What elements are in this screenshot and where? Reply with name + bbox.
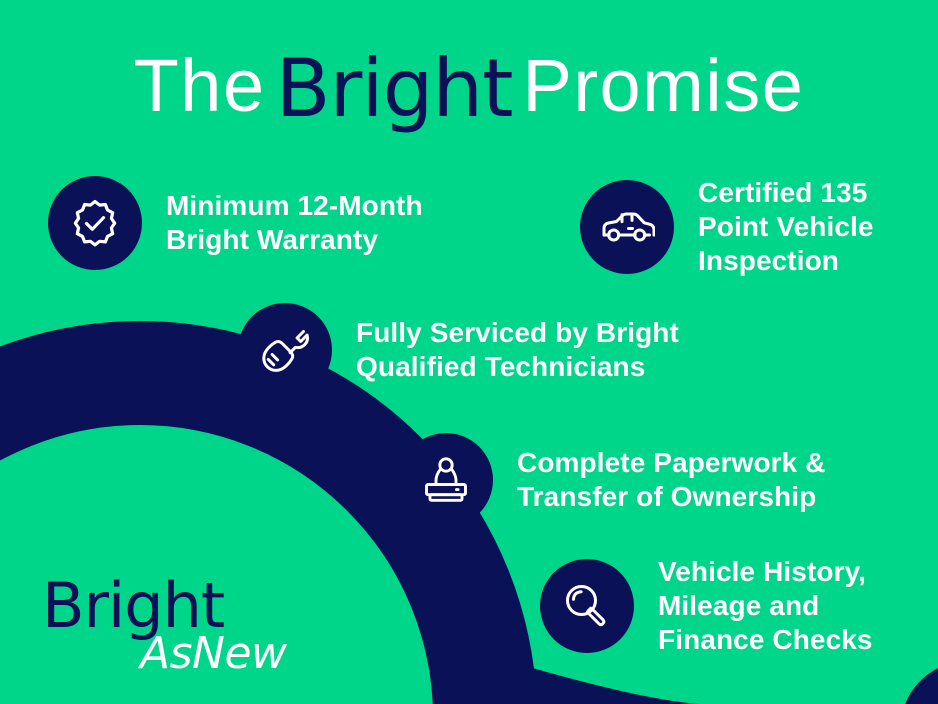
feature-label: Certified 135 Point Vehicle Inspection <box>698 176 874 278</box>
title-word-the: The <box>134 49 266 123</box>
feature-icon-badge <box>238 303 332 397</box>
feature-icon-badge <box>580 180 674 274</box>
feature-icon-badge <box>48 176 142 270</box>
brand-logo: Bright AsNew <box>42 575 292 685</box>
feature-item-warranty: Minimum 12-Month Bright Warranty <box>48 176 423 270</box>
feature-icon-badge <box>399 433 493 527</box>
verified-badge-icon <box>69 197 121 249</box>
rubber-stamp-icon <box>421 454 471 506</box>
feature-label: Minimum 12-Month Bright Warranty <box>166 189 423 257</box>
feature-item-inspection: Certified 135 Point Vehicle Inspection <box>580 176 874 278</box>
title-brand-bright: Bright <box>276 49 513 129</box>
car-icon <box>599 204 655 250</box>
logo-secondary-text: AsNew <box>140 632 287 676</box>
feature-item-servicing: Fully Serviced by Bright Qualified Techn… <box>238 303 679 397</box>
feature-item-checks: Vehicle History, Mileage and Finance Che… <box>540 555 873 657</box>
feature-icon-badge <box>540 559 634 653</box>
feature-label: Complete Paperwork & Transfer of Ownersh… <box>517 446 826 514</box>
navy-corner-shape <box>905 668 938 704</box>
wrench-hand-icon <box>259 324 311 376</box>
feature-label: Vehicle History, Mileage and Finance Che… <box>658 555 873 657</box>
feature-label: Fully Serviced by Bright Qualified Techn… <box>356 316 679 384</box>
feature-item-paperwork: Complete Paperwork & Transfer of Ownersh… <box>399 433 826 527</box>
magnifying-glass-icon <box>562 581 612 631</box>
title-word-promise: Promise <box>522 49 804 123</box>
promise-graphic: TheBrightPromise Minimum 12-Month Bright… <box>0 0 938 704</box>
navy-wedge-shape <box>505 660 700 704</box>
page-title: TheBrightPromise <box>0 44 938 124</box>
